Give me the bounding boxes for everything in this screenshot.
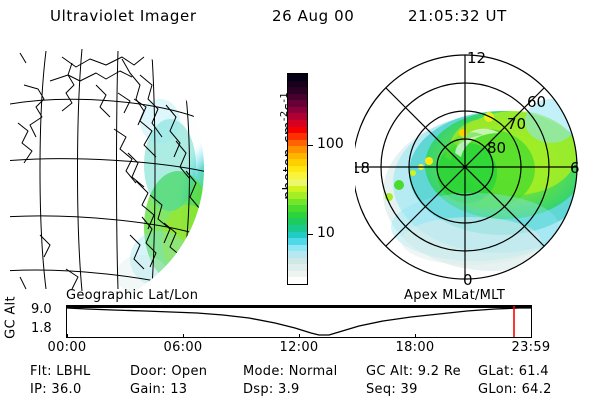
mlt-label-18: 18 bbox=[355, 159, 370, 177]
time-axis-label: 06:00 bbox=[164, 340, 203, 355]
status-field-value: 39 bbox=[396, 382, 418, 397]
status-field-value: Normal bbox=[284, 364, 337, 379]
status-field-value: 36.0 bbox=[47, 382, 82, 397]
mlt-label-0: 0 bbox=[463, 271, 473, 289]
instrument-title: Ultraviolet Imager bbox=[50, 7, 197, 25]
status-bar: Flt: LBHLDoor: OpenMode: NormalGC Alt: 9… bbox=[0, 362, 600, 400]
time-axis-label: 00:00 bbox=[48, 340, 87, 355]
intensity-colorbar: photon cm-2s-1 10010 bbox=[255, 45, 350, 293]
time-axis-tick bbox=[183, 334, 184, 338]
geographic-globe-view[interactable] bbox=[10, 45, 250, 293]
gcalt-tick-low: 1.8 bbox=[31, 321, 52, 336]
time-axis-label: 23:59 bbox=[512, 340, 551, 355]
status-field-label: Seq: bbox=[366, 382, 396, 397]
observation-date: 26 Aug 00 bbox=[272, 7, 354, 25]
status-field: IP: 36.0 bbox=[30, 382, 82, 397]
time-axis-label: 18:00 bbox=[396, 340, 435, 355]
apex-view-label: Apex MLat/MLT bbox=[404, 288, 505, 303]
gcalt-tick-high: 9.0 bbox=[31, 302, 52, 317]
status-field: GLat: 61.4 bbox=[478, 364, 549, 379]
status-field: Mode: Normal bbox=[243, 364, 338, 379]
time-axis-tick bbox=[415, 334, 416, 338]
colorbar-tick-label: 100 bbox=[317, 137, 344, 151]
status-field-label: GC Alt: bbox=[366, 364, 413, 379]
status-field: Seq: 39 bbox=[366, 382, 418, 397]
status-field-label: Door: bbox=[130, 364, 167, 379]
time-axis-tick bbox=[531, 334, 532, 338]
colorbar-tick-label: 10 bbox=[317, 226, 335, 240]
globe-image bbox=[10, 45, 250, 293]
mlt-label-6: 6 bbox=[570, 159, 580, 177]
apex-polar-view[interactable]: 12 18 6 0 60 70 80 bbox=[355, 45, 600, 295]
status-field-value: 61.4 bbox=[514, 364, 549, 379]
status-field-label: Flt: bbox=[30, 364, 52, 379]
polar-dial-image: 12 18 6 0 60 70 80 bbox=[355, 45, 600, 295]
geographic-view-label: Geographic Lat/Lon bbox=[66, 288, 198, 303]
status-field-label: GLon: bbox=[478, 382, 517, 397]
status-field-value: 13 bbox=[166, 382, 188, 397]
status-field-label: IP: bbox=[30, 382, 47, 397]
status-field: Gain: 13 bbox=[130, 382, 187, 397]
time-axis-label: 12:00 bbox=[280, 340, 319, 355]
mlat-label-60: 60 bbox=[527, 93, 546, 111]
time-axis-tick bbox=[299, 334, 300, 338]
mlat-label-80: 80 bbox=[487, 139, 506, 157]
colorbar-tick-mark bbox=[307, 145, 313, 146]
observation-time: 21:05:32 UT bbox=[408, 7, 507, 25]
time-axis-tick bbox=[67, 334, 68, 338]
status-field: Dsp: 3.9 bbox=[243, 382, 300, 397]
status-field-value: Open bbox=[167, 364, 207, 379]
status-field: Door: Open bbox=[130, 364, 207, 379]
colorbar-tick-mark bbox=[307, 234, 313, 235]
colorbar-segment bbox=[288, 277, 307, 284]
status-field: GC Alt: 9.2 Re bbox=[366, 364, 461, 379]
orbit-altitude-timeline[interactable]: Geographic Lat/Lon Apex MLat/MLT GC Alt … bbox=[0, 288, 600, 350]
colorbar-gradient bbox=[287, 73, 308, 285]
altitude-curve bbox=[67, 306, 531, 337]
status-field: GLon: 64.2 bbox=[478, 382, 552, 397]
status-field-value: 9.2 Re bbox=[413, 364, 461, 379]
status-field-label: Gain: bbox=[130, 382, 166, 397]
status-field-value: LBHL bbox=[52, 364, 91, 379]
status-field-value: 64.2 bbox=[517, 382, 552, 397]
status-field-value: 3.9 bbox=[274, 382, 300, 397]
gcalt-axis-title: GC Alt bbox=[4, 292, 19, 344]
mlat-label-70: 70 bbox=[507, 115, 526, 133]
header-bar: Ultraviolet Imager 26 Aug 00 21:05:32 UT bbox=[0, 4, 600, 30]
status-field: Flt: LBHL bbox=[30, 364, 91, 379]
status-field-label: Mode: bbox=[243, 364, 284, 379]
mlt-label-12: 12 bbox=[467, 49, 486, 67]
status-field-label: GLat: bbox=[478, 364, 514, 379]
status-field-label: Dsp: bbox=[243, 382, 274, 397]
